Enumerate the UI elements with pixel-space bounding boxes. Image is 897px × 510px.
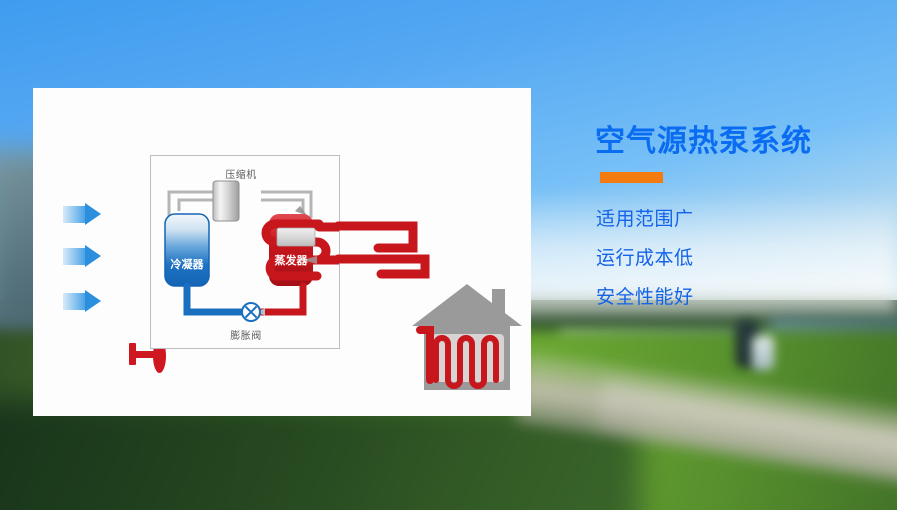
bullet-item-2: 运行成本低: [596, 249, 694, 268]
arrow-tail: [63, 206, 85, 223]
refrigeration-circuit-svg: 冷凝器 蒸发器: [151, 156, 339, 348]
fan-shaft: [135, 351, 155, 358]
condenser-label: 冷凝器: [171, 257, 205, 271]
title-accent-bar: [600, 172, 663, 183]
arrow-tail: [63, 293, 85, 310]
bullet-item-3: 安全性能好: [596, 288, 694, 307]
page-title: 空气源热泵系统: [595, 127, 812, 157]
arrow-head: [85, 290, 101, 312]
arrow-head: [85, 203, 101, 225]
heat-pump-schematic: 压缩机 膨胀阀: [150, 155, 340, 349]
evaporator-label: 蒸发器: [275, 253, 309, 267]
arrow-tail: [63, 248, 85, 265]
slide-canvas: 压缩机 膨胀阀: [0, 0, 897, 510]
underfloor-heating-coil-svg: [410, 284, 530, 392]
house-graphic: [410, 284, 530, 392]
distant-figure-light: [752, 336, 774, 370]
diagram-card: 压缩机 膨胀阀: [33, 88, 531, 416]
bullet-item-1: 适用范围广: [596, 210, 694, 229]
arrow-head: [85, 245, 101, 267]
